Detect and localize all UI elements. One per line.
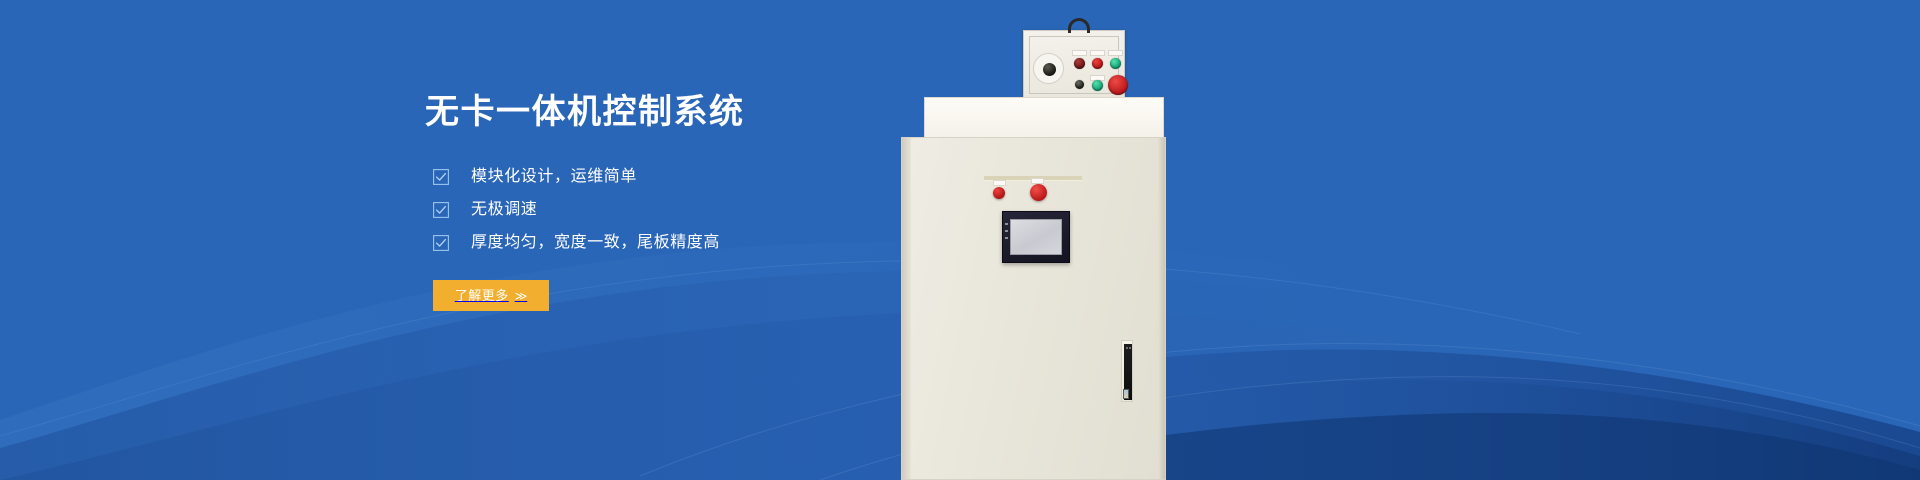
- feature-label: 厚度均匀，宽度一致，尾板精度高: [471, 235, 720, 251]
- door-lock-strip[interactable]: [1121, 340, 1133, 402]
- push-button-green[interactable]: [1092, 80, 1103, 91]
- label-tag: [1090, 50, 1105, 56]
- checkbox-checked-icon: [433, 235, 449, 251]
- list-item: 厚度均匀，宽度一致，尾板精度高: [433, 226, 720, 259]
- chevron-double-right-icon: ≫: [515, 290, 528, 302]
- indicator-lamp-red[interactable]: [1092, 58, 1103, 69]
- feature-list: 模块化设计，运维简单 无极调速 厚度均匀，宽度一致，尾板精度高: [433, 160, 720, 259]
- indicator-lamp-green[interactable]: [1110, 58, 1121, 69]
- checkbox-checked-icon: [433, 202, 449, 218]
- door-lock-screw: [1129, 347, 1131, 349]
- learn-more-button[interactable]: 了解更多 ≫: [433, 280, 549, 311]
- push-button-black[interactable]: [1075, 80, 1084, 89]
- checkbox-checked-icon: [433, 169, 449, 185]
- page-title: 无卡一体机控制系统: [425, 92, 745, 133]
- emergency-stop-button[interactable]: [1108, 75, 1128, 95]
- label-tag: [1108, 50, 1123, 56]
- door-lock-keyhole-icon[interactable]: [1123, 389, 1129, 399]
- power-cable-icon: [1068, 18, 1090, 33]
- list-item: 模块化设计，运维简单: [433, 160, 720, 193]
- cabinet-right-edge: [1158, 138, 1165, 479]
- indicator-lamp-dark-red[interactable]: [1074, 58, 1085, 69]
- hero-banner: 无卡一体机控制系统 模块化设计，运维简单 无极调速: [0, 0, 1920, 480]
- feature-label: 模块化设计，运维简单: [471, 169, 637, 185]
- learn-more-label: 了解更多: [455, 289, 509, 302]
- label-tag: [1072, 50, 1087, 56]
- feature-label: 无极调速: [471, 202, 537, 218]
- list-item: 无极调速: [433, 193, 720, 226]
- banner-content: 无卡一体机控制系统 模块化设计，运维简单 无极调速: [425, 0, 1065, 480]
- door-lock-screw: [1126, 347, 1128, 349]
